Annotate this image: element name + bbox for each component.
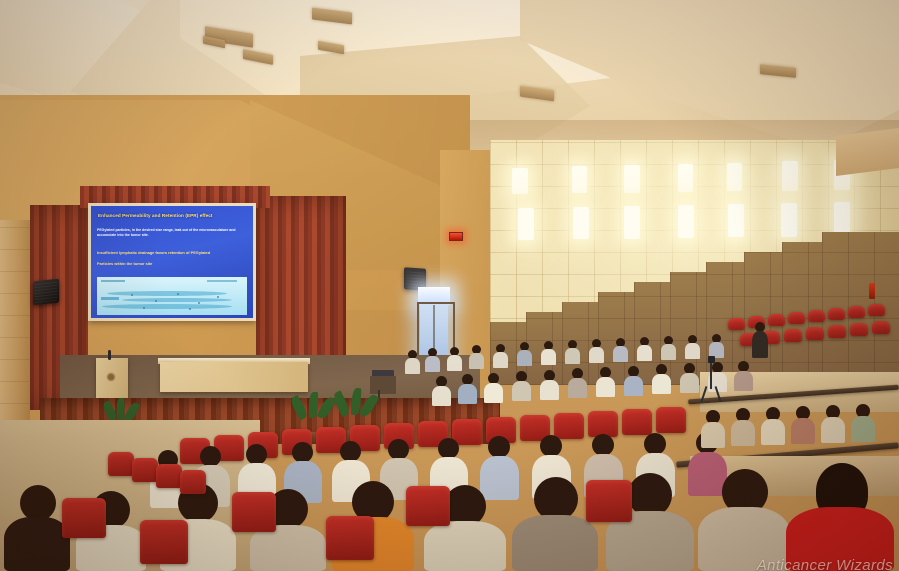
audience-balcony [700,396,899,456]
slide-paragraph-2-line-2: Particles within the tumor site [97,261,248,267]
wall-sconce-upper-4 [678,164,693,192]
seat-empty[interactable] [868,304,885,316]
seat-foreground[interactable] [62,498,106,538]
soffit-beam-right [836,128,899,176]
seat-empty[interactable] [808,310,825,322]
wall-speaker-left [33,279,59,306]
wall-sconce-upper-3 [624,165,640,193]
seat-empty[interactable] [828,325,846,338]
wall-sconce-upper-5 [727,163,742,191]
seat-foreground[interactable] [232,492,276,532]
wall-sconce-lower-6 [781,203,797,237]
seat-aisle[interactable] [108,452,134,476]
slide-paragraph-1: PEGylated particles, in the desired size… [97,228,248,239]
seat-foreground[interactable] [586,480,632,522]
auditorium-photo: Enhanced Permeability and Retention (EPR… [0,0,899,571]
podium-emblem [106,372,116,382]
seat-foreground[interactable] [406,486,450,526]
seat-empty[interactable] [784,329,802,342]
seat-aisle[interactable] [180,470,206,494]
seat-empty[interactable] [828,308,845,320]
slide-title: Enhanced Permeability and Retention (EPR… [98,213,248,218]
head-table [160,362,308,392]
slide-paragraph-2-line-1: Insufficient lymphatic drainage favors r… [97,250,248,256]
av-table [370,376,396,394]
seat-empty[interactable] [848,306,865,318]
wall-sconce-lower-7 [834,202,850,236]
seat-empty[interactable] [806,327,824,340]
seat-aisle[interactable] [156,464,182,488]
seat-empty[interactable] [788,312,805,324]
seat-empty[interactable] [768,314,785,326]
exit-sign [449,232,463,241]
wall-sconce-upper-2 [572,166,587,193]
person-standing [752,322,768,358]
wall-sconce-lower-2 [573,207,589,239]
wall-sconce-lower-4 [678,205,694,238]
projection-screen: Enhanced Permeability and Retention (EPR… [91,206,253,318]
seat-foreground[interactable] [326,516,374,560]
podium-microphone [108,350,111,360]
wall-sconce-lower-5 [728,204,744,237]
camera-tripod [702,356,720,402]
seat-empty[interactable] [872,321,890,334]
seat-foreground[interactable] [140,520,188,564]
fire-extinguisher [869,283,875,299]
seat-empty[interactable] [850,323,868,336]
wall-sconce-lower-3 [624,206,640,239]
watermark-text: Anticancer Wizards [757,557,893,571]
wall-sconce-upper-6 [782,161,798,191]
slide-figure [97,277,247,315]
wall-sconce-lower-1 [518,208,534,240]
wall-sconce-upper-1 [512,168,528,194]
seat-aisle[interactable] [132,458,158,482]
